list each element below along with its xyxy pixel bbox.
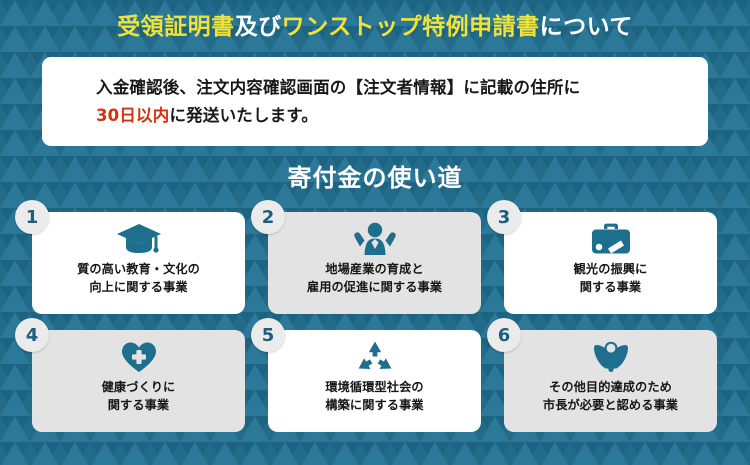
usage-card-2-label-line-2: 雇用の促進に関する事業 [307, 279, 442, 297]
card-number-badge-4: 4 [15, 318, 49, 352]
title-segment-4: について [540, 14, 633, 40]
page-title: 受領証明書及びワンストップ特例申請書について [0, 0, 750, 55]
title-segment-3: ワンストップ特例申請書 [282, 14, 540, 40]
suitcase-icon [590, 221, 632, 257]
usage-card-1-label: 質の高い教育・文化の 向上に関する事業 [77, 261, 200, 296]
notice-deadline-highlight: 30日以内 [96, 106, 169, 125]
usage-card-5-label-line-1: 環境循環型社会の [325, 379, 423, 397]
usage-card-2-label-line-1: 地場産業の育成と [307, 261, 442, 279]
recycle-icon [356, 339, 394, 375]
card-number-badge-2: 2 [251, 200, 285, 234]
section-heading: 寄付金の使い道 [0, 158, 750, 193]
sprout-hands-icon [593, 339, 629, 375]
usage-card-4[interactable]: 4 健康づくりに 関する事業 [32, 330, 245, 432]
person-raising-arms-icon [353, 221, 397, 257]
usage-card-5-label-line-2: 構築に関する事業 [325, 397, 423, 415]
card-number-badge-5: 5 [251, 318, 285, 352]
usage-card-6-label-line-1: その他目的達成のため [543, 379, 678, 397]
usage-card-4-label-line-2: 関する事業 [102, 397, 176, 415]
usage-card-3-label: 観光の振興に 関する事業 [574, 261, 648, 296]
usage-card-3[interactable]: 3 観光の振興に 関する事業 [504, 212, 717, 314]
usage-card-2[interactable]: 2 地場産業の育成と 雇用の促進に関する事業 [268, 212, 481, 314]
title-segment-1: 受領証明書 [117, 14, 235, 40]
notice-line-2-rest: に発送いたします。 [169, 106, 318, 125]
title-segment-2: 及び [235, 14, 282, 40]
page-title-text: 受領証明書及びワンストップ特例申請書について [117, 16, 633, 39]
shipping-notice-box: 入金確認後、注文内容確認画面の【注文者情報】に記載の住所に 30日以内に発送いた… [42, 57, 708, 146]
usage-card-4-label-line-1: 健康づくりに [102, 379, 176, 397]
usage-card-1[interactable]: 1 質の高い教育・文化の 向上に関する事業 [32, 212, 245, 314]
usage-card-6[interactable]: 6 その他目的達成のため 市長が必要と認める事業 [504, 330, 717, 432]
graduation-cap-icon [116, 221, 162, 257]
usage-card-3-label-line-2: 関する事業 [574, 279, 648, 297]
usage-card-5-label: 環境循環型社会の 構築に関する事業 [325, 379, 423, 414]
usage-card-5[interactable]: 5 環境循環型社会の 構築に関する事業 [268, 330, 481, 432]
notice-line-2: 30日以内に発送いたします。 [96, 102, 708, 130]
card-number-badge-1: 1 [15, 200, 49, 234]
infographic-canvas: 受領証明書及びワンストップ特例申請書について 入金確認後、注文内容確認画面の【注… [0, 0, 750, 465]
usage-card-2-label: 地場産業の育成と 雇用の促進に関する事業 [307, 261, 442, 296]
usage-card-1-label-line-2: 向上に関する事業 [77, 279, 200, 297]
usage-card-6-label-line-2: 市長が必要と認める事業 [543, 397, 678, 415]
notice-line-1: 入金確認後、注文内容確認画面の【注文者情報】に記載の住所に [96, 74, 708, 102]
usage-card-1-label-line-1: 質の高い教育・文化の [77, 261, 200, 279]
heart-plus-icon [120, 339, 158, 375]
card-number-badge-3: 3 [487, 200, 521, 234]
usage-card-4-label: 健康づくりに 関する事業 [102, 379, 176, 414]
usage-card-6-label: その他目的達成のため 市長が必要と認める事業 [543, 379, 678, 414]
donation-usage-card-grid: 1 質の高い教育・文化の 向上に関する事業 2 [0, 212, 750, 452]
usage-card-3-label-line-1: 観光の振興に [574, 261, 648, 279]
card-number-badge-6: 6 [487, 318, 521, 352]
